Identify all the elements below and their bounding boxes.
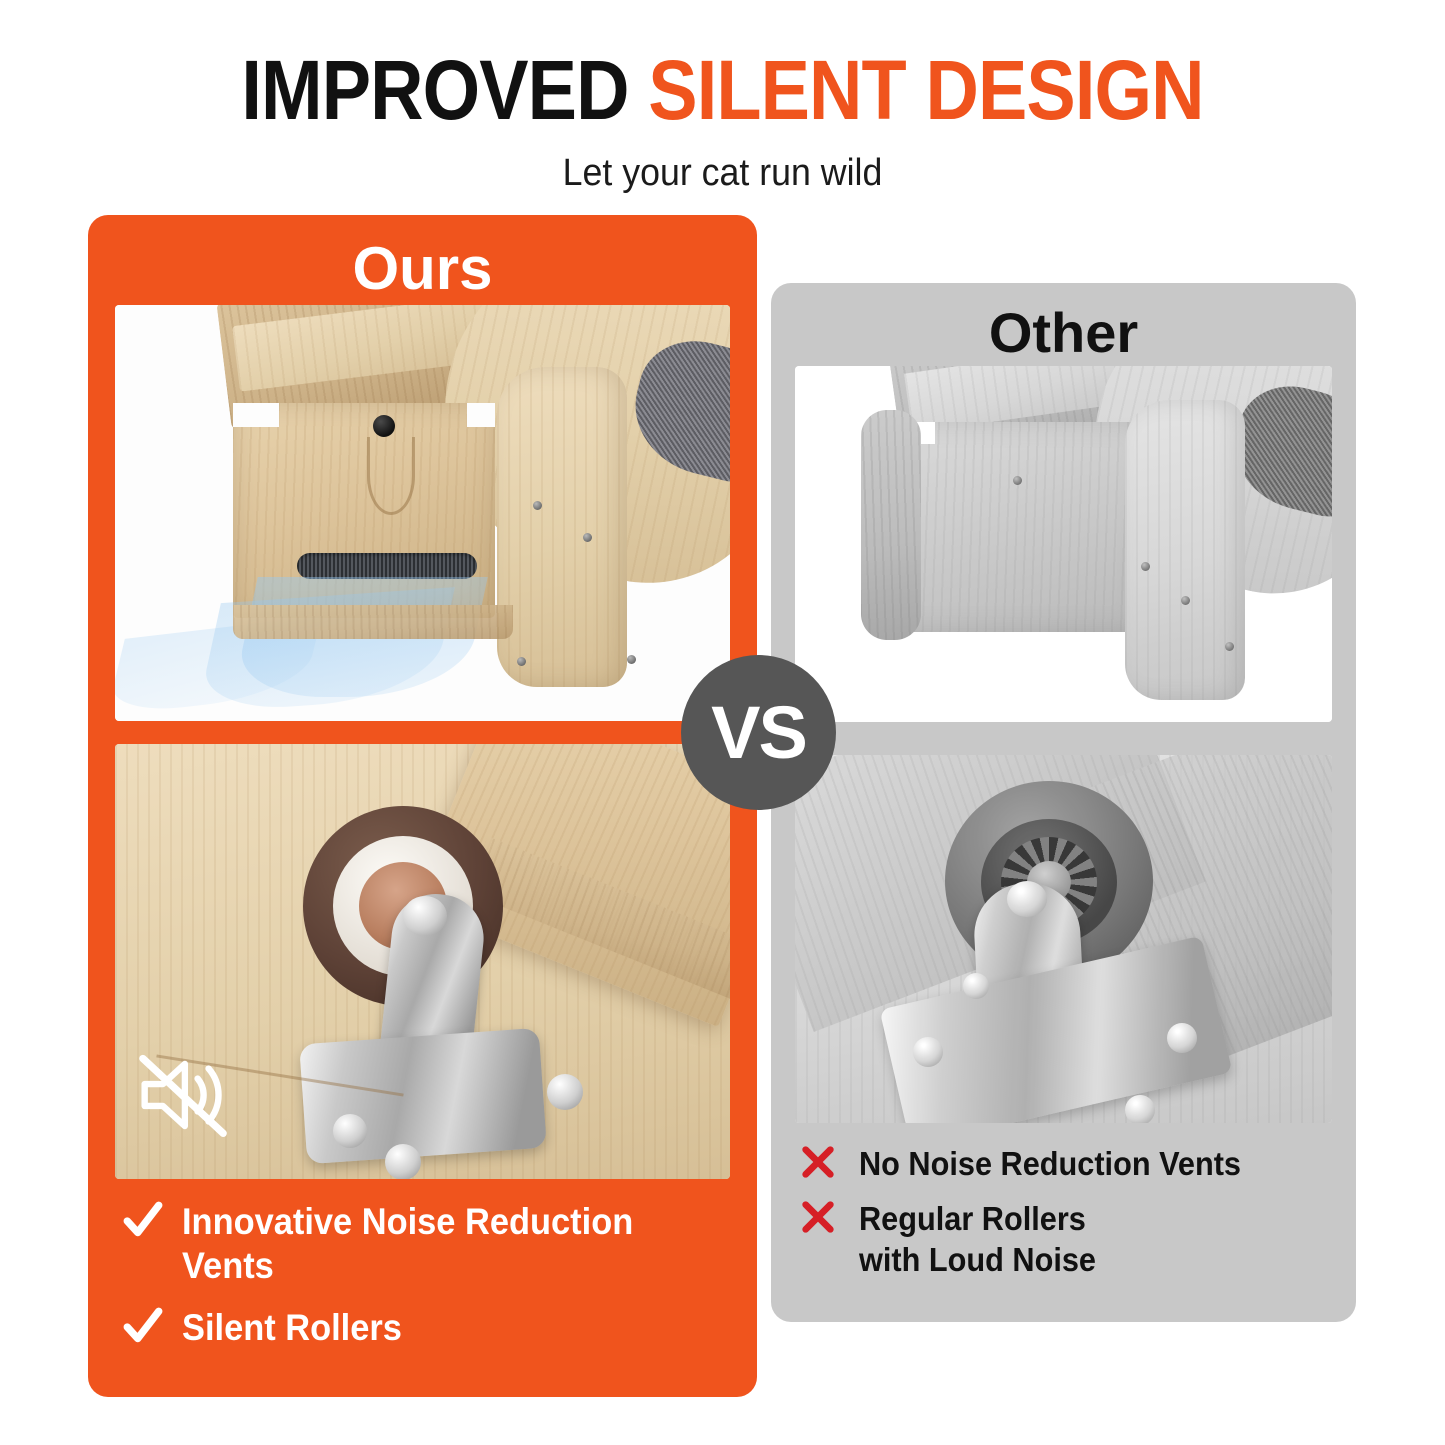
feature-item: Regular Rollers with Loud Noise (799, 1198, 1319, 1280)
feature-item: Silent Rollers (122, 1306, 742, 1350)
title-part-silent-design: SILENT DESIGN (648, 43, 1203, 137)
other-panel: Other (771, 283, 1356, 1322)
feature-label: Silent Rollers (182, 1306, 402, 1350)
feature-label: Regular Rollers with Loud Noise (859, 1198, 1138, 1280)
other-panel-title: Other (771, 303, 1356, 363)
cross-icon (799, 1143, 859, 1181)
page-title: IMPROVED SILENT DESIGN (87, 47, 1359, 133)
feature-label: Innovative Noise Reduction Vents (182, 1200, 703, 1288)
feature-item: No Noise Reduction Vents (799, 1143, 1319, 1184)
check-icon (122, 1200, 182, 1242)
feature-item: Innovative Noise Reduction Vents (122, 1200, 742, 1288)
cross-icon (799, 1198, 859, 1236)
vent-slot (297, 553, 477, 579)
silent-roller-photo (115, 744, 730, 1179)
page-subtitle: Let your cat run wild (43, 152, 1401, 194)
noise-reduction-vent-photo (115, 305, 730, 721)
check-icon (122, 1306, 182, 1348)
no-vent-photo (795, 366, 1332, 722)
vs-label: VS (711, 690, 806, 775)
ours-feature-list: Innovative Noise Reduction Vents Silent … (122, 1200, 742, 1364)
other-feature-list: No Noise Reduction Vents Regular Rollers… (799, 1143, 1319, 1294)
ours-panel-title: Ours (88, 237, 757, 301)
mute-icon (137, 1053, 229, 1137)
header: IMPROVED SILENT DESIGN Let your cat run … (0, 0, 1445, 205)
vs-badge: VS (681, 655, 836, 810)
ours-panel: Ours (88, 215, 757, 1397)
feature-label: No Noise Reduction Vents (859, 1143, 1241, 1184)
regular-roller-photo (795, 755, 1332, 1123)
title-part-improved: IMPROVED (241, 43, 628, 137)
